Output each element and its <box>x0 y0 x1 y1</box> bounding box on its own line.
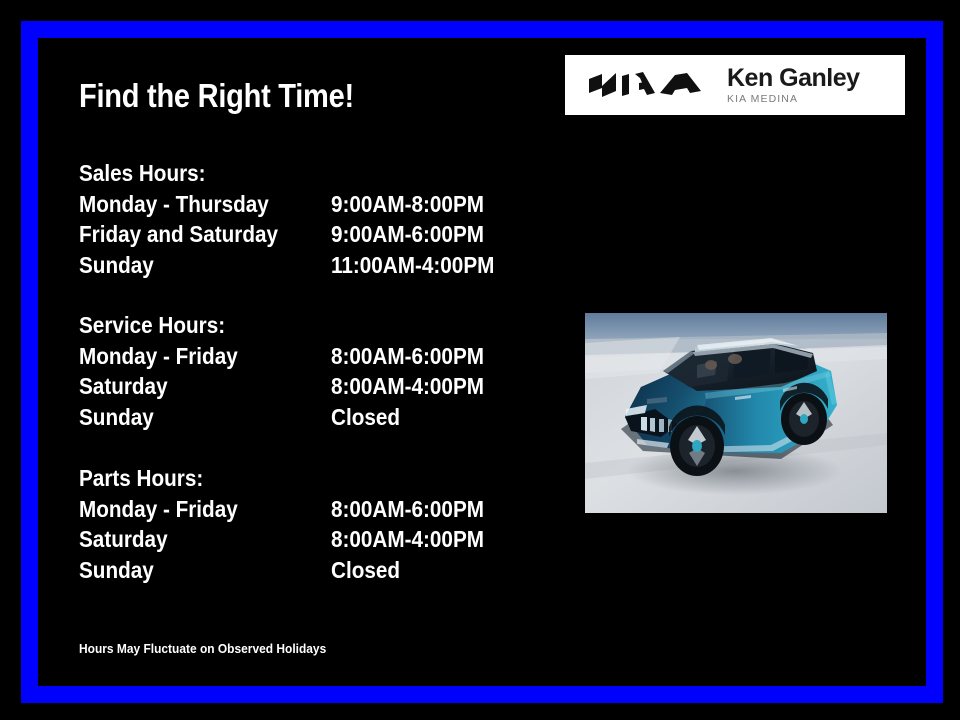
hours-row: Monday - Friday 8:00AM-6:00PM <box>79 494 539 525</box>
hours-row-time: 8:00AM-4:00PM <box>331 371 484 402</box>
slide-content: Find the Right Time! Sales Hours: Monday… <box>0 0 960 720</box>
hours-row: Sunday Closed <box>79 555 539 586</box>
hours-row-time: 9:00AM-6:00PM <box>331 219 484 250</box>
hours-row-day: Monday - Thursday <box>79 189 269 220</box>
hours-row: Sunday Closed <box>79 402 539 433</box>
hours-row-time: 8:00AM-6:00PM <box>331 341 484 372</box>
hours-row-time: 9:00AM-8:00PM <box>331 189 484 220</box>
hours-row: Saturday 8:00AM-4:00PM <box>79 371 539 402</box>
hours-row-day: Saturday <box>79 371 168 402</box>
hours-row-day: Sunday <box>79 402 154 433</box>
hours-row-day: Monday - Friday <box>79 341 238 372</box>
hours-row-time: Closed <box>331 402 400 433</box>
hours-row-day: Monday - Friday <box>79 494 238 525</box>
dealer-sublabel: KIA MEDINA <box>727 94 860 105</box>
kia-logo-icon <box>587 71 703 99</box>
hours-row-time: 8:00AM-6:00PM <box>331 494 484 525</box>
hours-row: Sunday 11:00AM-4:00PM <box>79 250 539 281</box>
hours-row-time: 8:00AM-4:00PM <box>331 524 484 555</box>
hours-row-day: Sunday <box>79 555 154 586</box>
hours-row-day: Saturday <box>79 524 168 555</box>
hours-row-day: Sunday <box>79 250 154 281</box>
dealer-name: Ken Ganley <box>727 66 860 91</box>
slide-canvas: Find the Right Time! Sales Hours: Monday… <box>0 0 960 720</box>
hours-row: Monday - Friday 8:00AM-6:00PM <box>79 341 539 372</box>
hours-row: Saturday 8:00AM-4:00PM <box>79 524 539 555</box>
hours-row-time: Closed <box>331 555 400 586</box>
hours-block-parts: Parts Hours: Monday - Friday 8:00AM-6:00… <box>79 463 539 585</box>
hours-row: Friday and Saturday 9:00AM-6:00PM <box>79 219 539 250</box>
hours-block-heading: Service Hours: <box>79 310 493 341</box>
dealer-logo-card: Ken Ganley KIA MEDINA <box>565 55 905 115</box>
kia-ev9-suv-photo <box>585 313 887 513</box>
hours-block-service: Service Hours: Monday - Friday 8:00AM-6:… <box>79 310 539 432</box>
hours-block-heading: Parts Hours: <box>79 463 493 494</box>
hours-row: Monday - Thursday 9:00AM-8:00PM <box>79 189 539 220</box>
hours-block-heading: Sales Hours: <box>79 158 493 189</box>
dealer-wordmark: Ken Ganley KIA MEDINA <box>727 66 860 105</box>
hours-block-sales: Sales Hours: Monday - Thursday 9:00AM-8:… <box>79 158 539 280</box>
page-title: Find the Right Time! <box>79 78 354 114</box>
hours-row-day: Friday and Saturday <box>79 219 278 250</box>
holiday-disclaimer: Hours May Fluctuate on Observed Holidays <box>79 641 326 656</box>
hours-row-time: 11:00AM-4:00PM <box>331 250 494 281</box>
